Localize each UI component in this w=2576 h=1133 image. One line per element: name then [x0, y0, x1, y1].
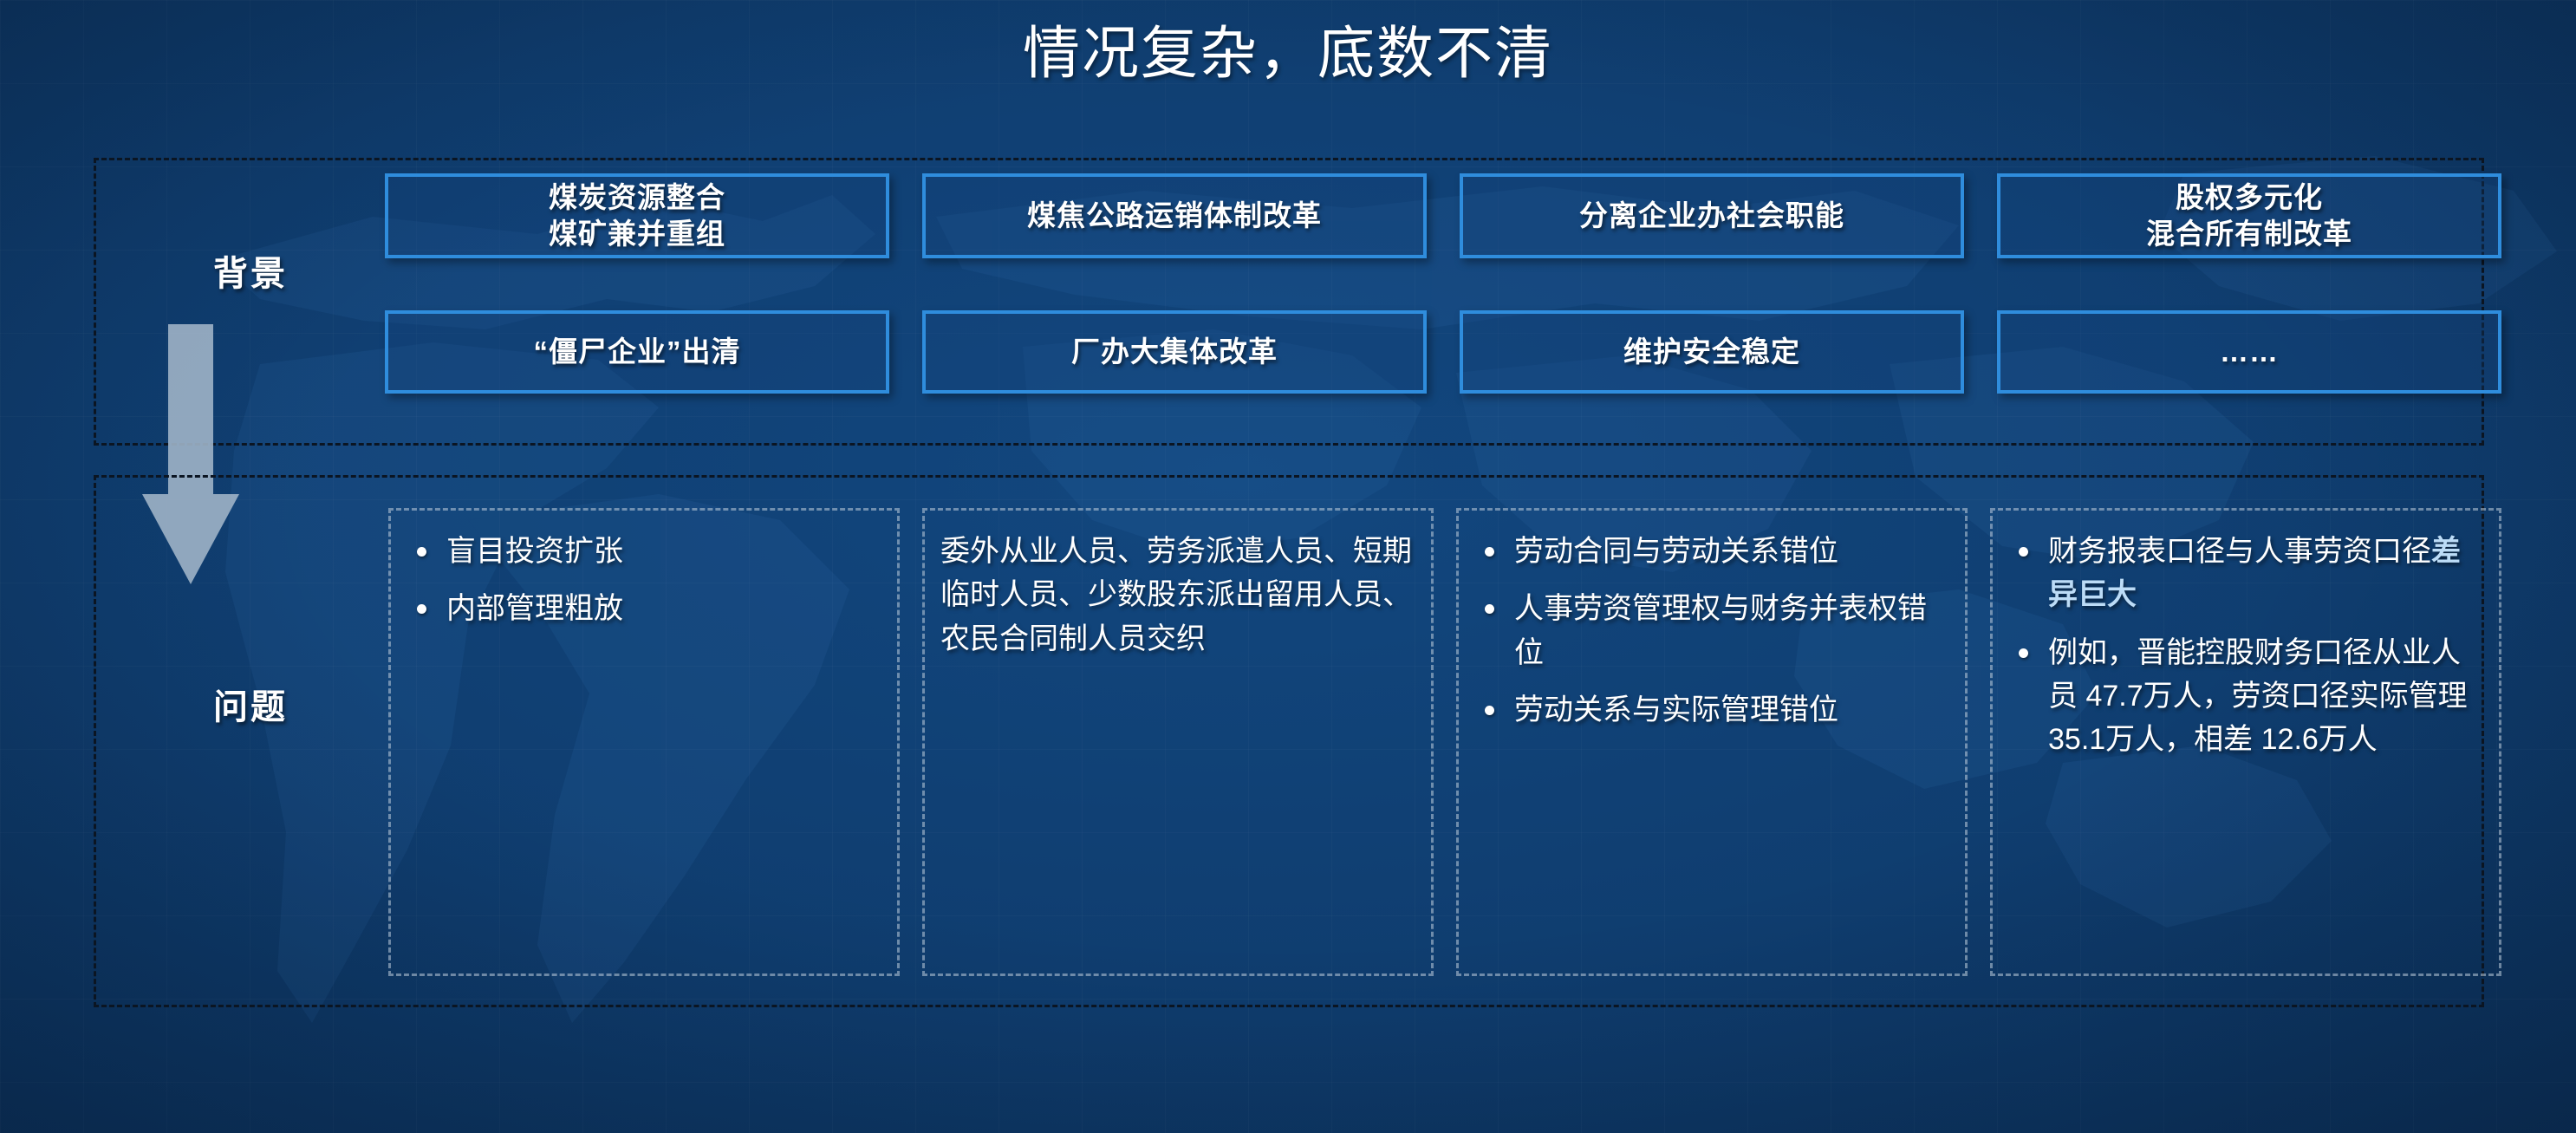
list-item: 内部管理粗放 — [407, 587, 881, 630]
background-chip-4[interactable]: 股权多元化 混合所有制改革 — [1997, 173, 2501, 258]
list-item: 劳动合同与劳动关系错位 — [1474, 530, 1949, 573]
list-item-text: 财务报表口径与人事劳资口径 — [2048, 535, 2431, 568]
background-chip-8[interactable]: …… — [1997, 310, 2501, 394]
background-chip-7[interactable]: 维护安全稳定 — [1460, 310, 1964, 394]
list-item: 劳动关系与实际管理错位 — [1474, 688, 1949, 732]
problem-paragraph-2: 委外从业人员、劳务派遣人员、短期临时人员、少数股东派出留用人员、农民合同制人员交… — [940, 530, 1415, 661]
background-chip-2[interactable]: 煤焦公路运销体制改革 — [922, 173, 1427, 258]
problem-section-label: 问题 — [213, 679, 288, 729]
problem-list-3: 劳动合同与劳动关系错位 人事劳资管理权与财务并表权错位 劳动关系与实际管理错位 — [1474, 530, 1949, 732]
list-item: 例如，晋能控股财务口径从业人员 47.7万人，劳资口径实际管理 35.1万人，相… — [2008, 631, 2483, 762]
problem-column-3: 劳动合同与劳动关系错位 人事劳资管理权与财务并表权错位 劳动关系与实际管理错位 — [1456, 508, 1968, 976]
background-chip-5[interactable]: “僵尸企业”出清 — [385, 310, 889, 394]
problem-column-2: 委外从业人员、劳务派遣人员、短期临时人员、少数股东派出留用人员、农民合同制人员交… — [922, 508, 1434, 976]
problem-list-1: 盲目投资扩张 内部管理粗放 — [407, 530, 881, 631]
list-item: 人事劳资管理权与财务并表权错位 — [1474, 587, 1949, 674]
background-chip-6[interactable]: 厂办大集体改革 — [922, 310, 1427, 394]
list-item-text: 例如，晋能控股财务口径从业人员 47.7万人，劳资口径实际管理 35.1万人，相… — [2048, 636, 2468, 757]
problem-list-4: 财务报表口径与人事劳资口径差异巨大 例如，晋能控股财务口径从业人员 47.7万人… — [2008, 530, 2483, 762]
background-chip-1[interactable]: 煤炭资源整合 煤矿兼并重组 — [385, 173, 889, 258]
background-section-label: 背景 — [213, 245, 288, 296]
problem-column-1: 盲目投资扩张 内部管理粗放 — [388, 508, 900, 976]
background-chip-3[interactable]: 分离企业办社会职能 — [1460, 173, 1964, 258]
problem-column-4: 财务报表口径与人事劳资口径差异巨大 例如，晋能控股财务口径从业人员 47.7万人… — [1990, 508, 2501, 976]
list-item: 盲目投资扩张 — [407, 530, 881, 573]
slide-canvas: 情况复杂，底数不清 背景 煤炭资源整合 煤矿兼并重组 煤焦公路运销体制改革 分离… — [0, 0, 2576, 1133]
list-item: 财务报表口径与人事劳资口径差异巨大 — [2008, 530, 2483, 617]
page-title: 情况复杂，底数不清 — [0, 7, 2576, 90]
